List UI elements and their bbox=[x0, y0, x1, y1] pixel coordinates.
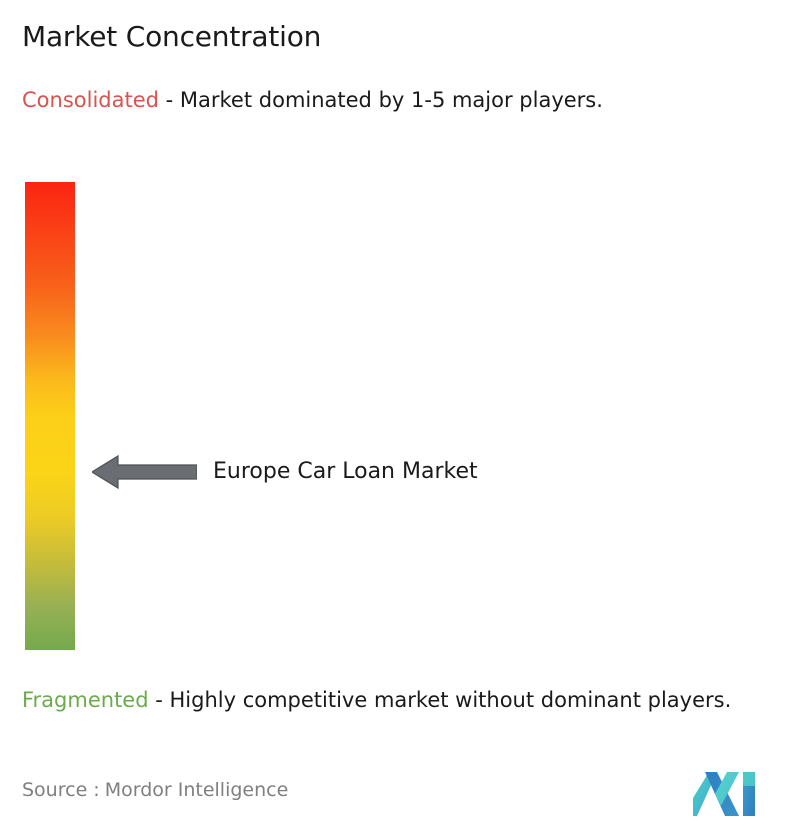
legend-fragmented-keyword: Fragmented bbox=[22, 688, 149, 712]
market-position-label: Europe Car Loan Market bbox=[213, 461, 478, 483]
legend-fragmented: Fragmented - Highly competitive market w… bbox=[22, 685, 787, 716]
legend-consolidated: Consolidated - Market dominated by 1-5 m… bbox=[22, 85, 767, 116]
footer: Source :Mordor Intelligence bbox=[0, 779, 796, 834]
legend-consolidated-description: - Market dominated by 1-5 major players. bbox=[159, 88, 603, 112]
source-label: Source : bbox=[22, 779, 100, 801]
page-title: Market Concentration bbox=[22, 20, 321, 53]
source-attribution: Source :Mordor Intelligence bbox=[22, 779, 288, 801]
market-concentration-gradient-bar bbox=[25, 182, 75, 650]
mordor-intelligence-logo bbox=[691, 770, 761, 816]
legend-fragmented-description: - Highly competitive market without domi… bbox=[149, 688, 732, 712]
source-value: Mordor Intelligence bbox=[105, 779, 289, 801]
legend-consolidated-keyword: Consolidated bbox=[22, 88, 159, 112]
market-position-callout: Europe Car Loan Market bbox=[92, 452, 478, 492]
arrow-left-icon bbox=[92, 452, 197, 492]
